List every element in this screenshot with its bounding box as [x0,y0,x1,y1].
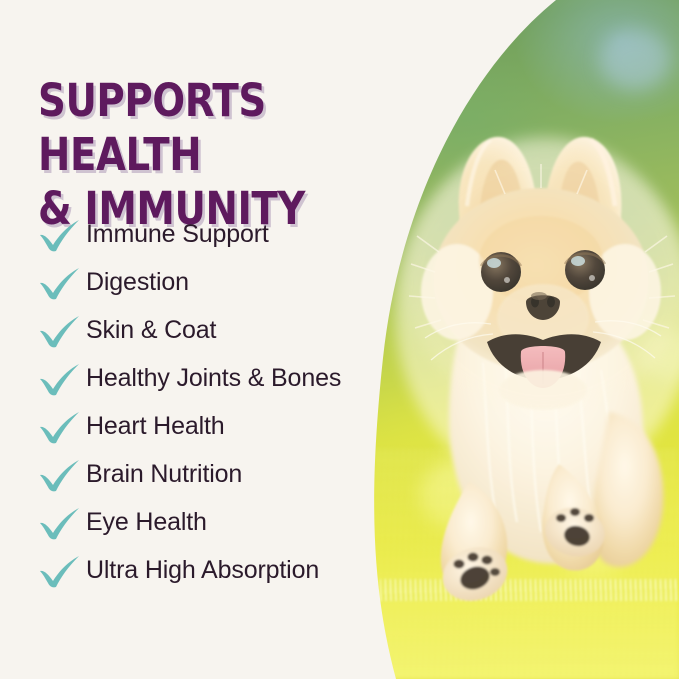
check-icon [34,214,86,254]
check-icon [34,358,86,398]
list-item-label: Heart Health [86,414,225,439]
list-item: Ultra High Absorption [34,546,384,594]
check-icon [34,502,86,542]
product-benefits-banner: Supports Health & Immunity Immune Suppor… [0,0,679,679]
list-item: Brain Nutrition [34,450,384,498]
list-item-label: Eye Health [86,510,207,535]
benefits-list: Immune Support Digestion Skin & Coat [34,210,384,594]
list-item-label: Digestion [86,270,189,295]
list-item: Heart Health [34,402,384,450]
check-icon [34,262,86,302]
list-item-label: Healthy Joints & Bones [86,366,341,391]
list-item-label: Skin & Coat [86,318,216,343]
list-item: Eye Health [34,498,384,546]
check-icon [34,550,86,590]
list-item: Skin & Coat [34,306,384,354]
list-item-label: Brain Nutrition [86,462,242,487]
list-item-label: Ultra High Absorption [86,558,319,583]
list-item-label: Immune Support [86,222,269,247]
list-item: Immune Support [34,210,384,258]
check-icon [34,454,86,494]
check-icon [34,310,86,350]
check-icon [34,406,86,446]
list-item: Healthy Joints & Bones [34,354,384,402]
list-item: Digestion [34,258,384,306]
